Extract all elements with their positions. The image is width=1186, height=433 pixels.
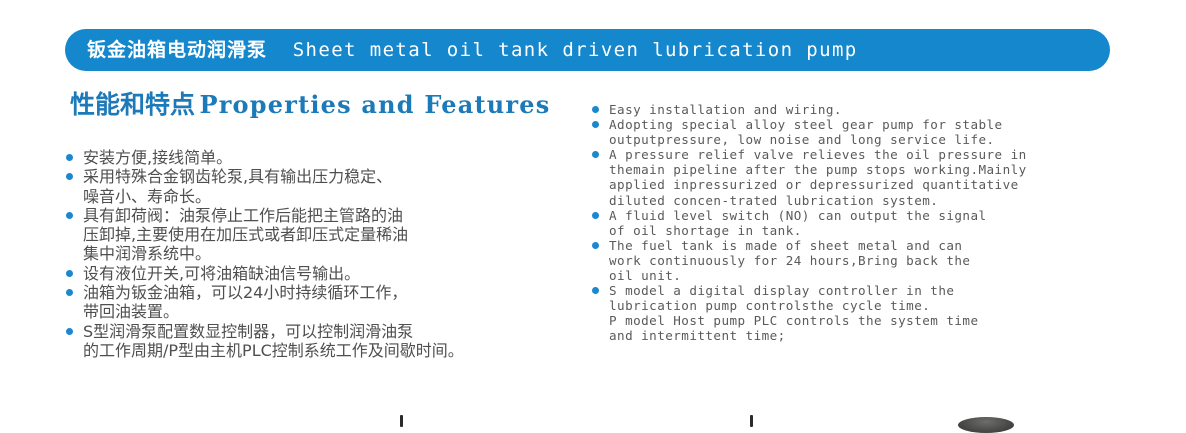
banner-title-spacer bbox=[267, 39, 293, 61]
list-item: The fuel tank is made of sheet metal and… bbox=[592, 238, 1112, 283]
product-photo-tick-right bbox=[750, 415, 753, 427]
product-spec-page: 钣金油箱电动润滑泵 Sheet metal oil tank driven lu… bbox=[0, 0, 1186, 427]
list-item-text: 设有液位开关,可将油箱缺油信号输出。 bbox=[83, 264, 360, 283]
section-heading-chinese: 性能和特点 bbox=[70, 90, 195, 119]
banner-title-english: Sheet metal oil tank driven lubrication … bbox=[293, 39, 858, 61]
list-item-text: 采用特殊合金钢齿轮泵,具有输出压力稳定、 噪音小、寿命长。 bbox=[83, 167, 392, 205]
list-item: A fluid level switch (NO) can output the… bbox=[592, 208, 1112, 238]
feature-list-chinese: 安装方便,接线简单。 采用特殊合金钢齿轮泵,具有输出压力稳定、 噪音小、寿命长。… bbox=[66, 148, 571, 360]
product-photo-tick-left bbox=[400, 415, 403, 427]
list-item: Adopting special alloy steel gear pump f… bbox=[592, 117, 1112, 147]
bullet-dot-icon bbox=[592, 287, 599, 294]
list-item-text: 油箱为钣金油箱，可以24小时持续循环工作， 带回油装置。 bbox=[83, 283, 407, 321]
list-item-text: 安装方便,接线简单。 bbox=[83, 148, 232, 167]
title-banner: 钣金油箱电动润滑泵 Sheet metal oil tank driven lu… bbox=[65, 29, 1110, 71]
list-item: 设有液位开关,可将油箱缺油信号输出。 bbox=[66, 264, 571, 283]
feature-list-english: Easy installation and wiring. Adopting s… bbox=[592, 102, 1112, 344]
product-photo-cylinder-top bbox=[958, 417, 1014, 433]
list-item: Easy installation and wiring. bbox=[592, 102, 1112, 117]
list-item-text: S型润滑泵配置数显控制器，可以控制润滑油泵 的工作周期/P型由主机PLC控制系统… bbox=[83, 322, 464, 360]
bullet-dot-icon bbox=[592, 212, 599, 219]
list-item-text: Adopting special alloy steel gear pump f… bbox=[609, 117, 1003, 147]
list-item-text: S model a digital display controller in … bbox=[609, 283, 978, 343]
features-column-english: Easy installation and wiring. Adopting s… bbox=[592, 102, 1112, 344]
bullet-dot-icon bbox=[592, 121, 599, 128]
bullet-dot-icon bbox=[66, 270, 73, 277]
section-heading: 性能和特点 Properties and Features bbox=[70, 92, 550, 117]
list-item: 油箱为钣金油箱，可以24小时持续循环工作， 带回油装置。 bbox=[66, 283, 571, 322]
list-item: 安装方便,接线简单。 bbox=[66, 148, 571, 167]
bullet-dot-icon bbox=[592, 242, 599, 249]
banner-title-chinese: 钣金油箱电动润滑泵 bbox=[87, 39, 267, 61]
bullet-dot-icon bbox=[592, 106, 599, 113]
list-item: 采用特殊合金钢齿轮泵,具有输出压力稳定、 噪音小、寿命长。 bbox=[66, 167, 571, 206]
bullet-dot-icon bbox=[66, 154, 73, 161]
bullet-dot-icon bbox=[66, 212, 73, 219]
bullet-dot-icon bbox=[66, 173, 73, 180]
list-item: A pressure relief valve relieves the oil… bbox=[592, 147, 1112, 207]
list-item-text: A pressure relief valve relieves the oil… bbox=[609, 147, 1027, 207]
list-item: S model a digital display controller in … bbox=[592, 283, 1112, 343]
list-item-text: The fuel tank is made of sheet metal and… bbox=[609, 238, 970, 283]
list-item-text: Easy installation and wiring. bbox=[609, 102, 842, 117]
list-item-text: A fluid level switch (NO) can output the… bbox=[609, 208, 987, 238]
list-item: 具有卸荷阀：油泵停止工作后能把主管路的油 压卸掉,主要使用在加压式或者卸压式定量… bbox=[66, 206, 571, 264]
banner-title: 钣金油箱电动润滑泵 Sheet metal oil tank driven lu… bbox=[87, 41, 858, 60]
bullet-dot-icon bbox=[592, 151, 599, 158]
bullet-dot-icon bbox=[66, 289, 73, 296]
features-column-chinese: 安装方便,接线简单。 采用特殊合金钢齿轮泵,具有输出压力稳定、 噪音小、寿命长。… bbox=[66, 148, 571, 360]
bullet-dot-icon bbox=[66, 328, 73, 335]
section-heading-english: Properties and Features bbox=[199, 90, 550, 119]
list-item-text: 具有卸荷阀：油泵停止工作后能把主管路的油 压卸掉,主要使用在加压式或者卸压式定量… bbox=[83, 206, 408, 264]
list-item: S型润滑泵配置数显控制器，可以控制润滑油泵 的工作周期/P型由主机PLC控制系统… bbox=[66, 322, 571, 361]
